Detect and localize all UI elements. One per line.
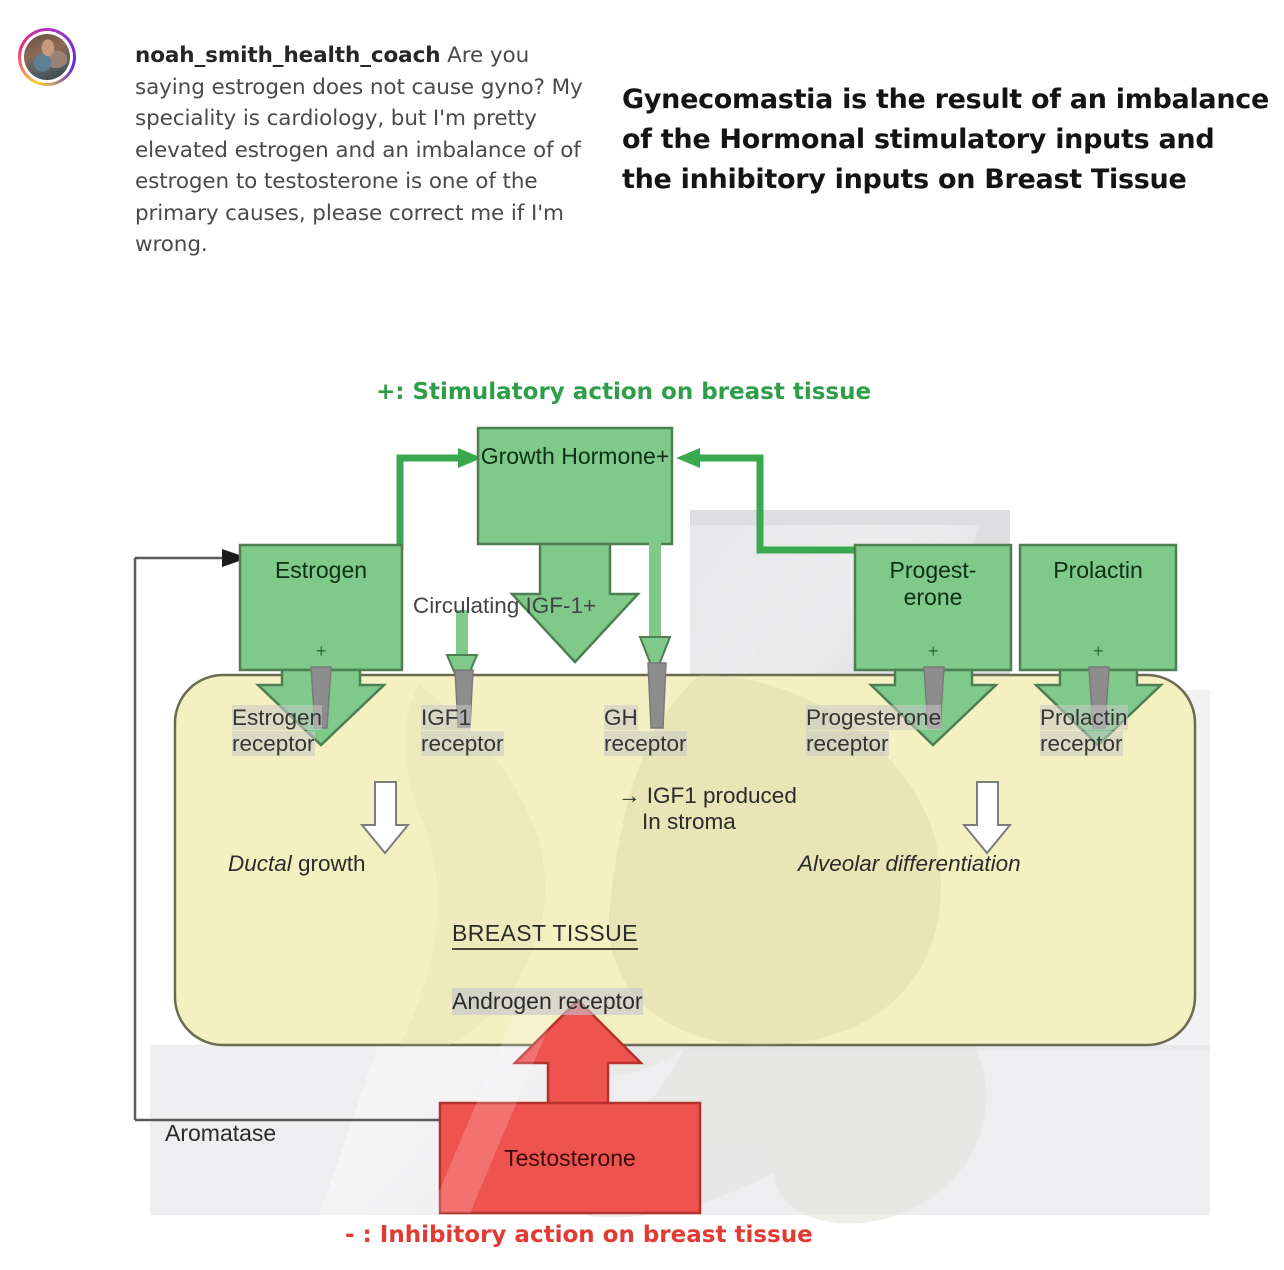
svg-text:+: + xyxy=(316,641,327,661)
avatar-photo xyxy=(24,34,70,80)
comment-body: Are you saying estrogen does not cause g… xyxy=(135,43,583,257)
headline: Gynecomastia is the result of an imbalan… xyxy=(622,80,1272,200)
receptor-gh: GHreceptor xyxy=(604,705,687,757)
receptor-prolactin: Prolactinreceptor xyxy=(1040,705,1128,757)
alveolar-differentiation-label: Alveolar differentiation xyxy=(798,851,1021,877)
avatar[interactable] xyxy=(18,28,76,86)
receptor-estrogen: Estrogenreceptor xyxy=(232,705,322,757)
gynecomastia-pathway-diagram: + + + +: Stimulatory action on breast ti xyxy=(0,345,1284,1270)
progesterone-to-gh-arrowhead xyxy=(676,448,700,468)
androgen-receptor-label: Androgen receptor xyxy=(452,988,643,1015)
growth-hormone-box xyxy=(478,428,672,544)
aromatase-label: Aromatase xyxy=(165,1120,276,1147)
instagram-comment: noah_smith_health_coach Are you saying e… xyxy=(0,0,612,340)
receptor-progesterone: Progesteronereceptor xyxy=(806,705,941,757)
circulating-igf1-label: Circulating IGF-1+ xyxy=(413,593,596,619)
comment-username[interactable]: noah_smith_health_coach xyxy=(135,43,440,68)
legend-stimulatory: +: Stimulatory action on breast tissue xyxy=(376,379,871,405)
estrogen-to-gh-line xyxy=(400,458,458,550)
receptor-igf1: IGF1receptor xyxy=(421,705,504,757)
svg-text:+: + xyxy=(1093,641,1104,661)
testosterone-label: Testosterone xyxy=(440,1145,700,1172)
legend-inhibitory: - : Inhibitory action on breast tissue xyxy=(345,1222,813,1248)
breast-tissue-title: BREAST TISSUE xyxy=(452,920,638,950)
svg-text:+: + xyxy=(928,641,939,661)
igf1-stroma-note: → IGF1 produced In stroma xyxy=(618,783,797,835)
ductal-growth-label: Ductal growth xyxy=(228,851,366,877)
comment-text: noah_smith_health_coach Are you saying e… xyxy=(135,40,605,261)
